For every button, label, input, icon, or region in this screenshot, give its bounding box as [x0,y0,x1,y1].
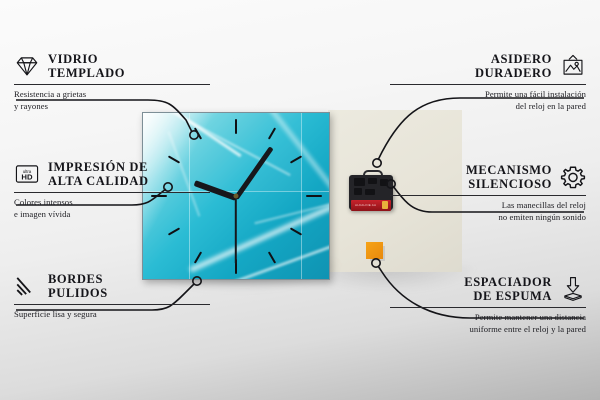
divider [390,84,586,85]
feature-espaciador-de-espuma: ESPACIADOR DE ESPUMA Permite mantener un… [390,275,586,335]
feature-mecanismo-silencioso: MECANISMO SILENCIOSO Las manecillas del … [390,163,586,223]
foam-spacer-product [366,242,383,259]
feature-description: Colores intensos e imagen vívida [14,197,210,220]
feature-title-line1: IMPRESIÓN DE [48,160,149,174]
clock-hub [234,194,239,199]
aa-battery: ALKALINE AA [351,200,391,211]
feature-title-line2: SILENCIOSO [466,177,552,191]
feature-title-line2: ALTA CALIDAD [48,174,149,188]
infographic-stage: ALKALINE AA [0,0,600,400]
divider [14,84,210,85]
clock-movement: ALKALINE AA [349,170,393,210]
feature-impresion-alta-calidad: ultra HD IMPRESIÓN DE ALTA CALIDAD Color… [14,160,210,220]
divider [390,307,586,308]
wall-hanging-icon [560,53,586,79]
feature-description: Permite mantener una distancia uniforme … [390,312,586,335]
polished-edges-icon [14,273,40,299]
feature-title-line1: MECANISMO [466,163,552,177]
feature-bordes-pulidos: BORDES PULIDOS Superficie lisa y segura [14,272,210,321]
diamond-icon [14,53,40,79]
divider [14,192,210,193]
ultra-hd-icon: ultra HD [14,161,40,187]
feature-title-line2: DURADERO [475,66,552,80]
feature-title-line2: TEMPLADO [48,66,125,80]
tick-3 [306,195,322,197]
feature-asidero-duradero: ASIDERO DURADERO Permite una fácil insta… [390,52,586,112]
battery-plus-terminal [382,201,388,209]
tick-5 [268,251,276,263]
feature-title-line1: ASIDERO [475,52,552,66]
feature-title-line2: PULIDOS [48,286,108,300]
feature-vidrio-templado: VIDRIO TEMPLADO Resistencia a grietas y … [14,52,210,112]
feature-title-line1: VIDRIO [48,52,125,66]
svg-text:HD: HD [21,173,33,182]
gear-icon [560,164,586,190]
second-hand [235,198,237,264]
feature-title-line1: BORDES [48,272,108,286]
feature-title-line2: DE ESPUMA [464,289,552,303]
feature-description: Resistencia a grietas y rayones [14,89,210,112]
divider [14,304,210,305]
feature-description: Superficie lisa y segura [14,309,210,321]
feature-description: Permite una fácil instalación del reloj … [390,89,586,112]
tick-8 [168,227,180,235]
divider [390,195,586,196]
feature-title-line1: ESPACIADOR [464,275,552,289]
foam-spacer-icon [560,276,586,302]
battery-label: ALKALINE AA [355,203,376,207]
feature-description: Las manecillas del reloj no emiten ningú… [390,200,586,223]
movement-body: ALKALINE AA [349,175,393,210]
tick-12 [235,119,237,134]
